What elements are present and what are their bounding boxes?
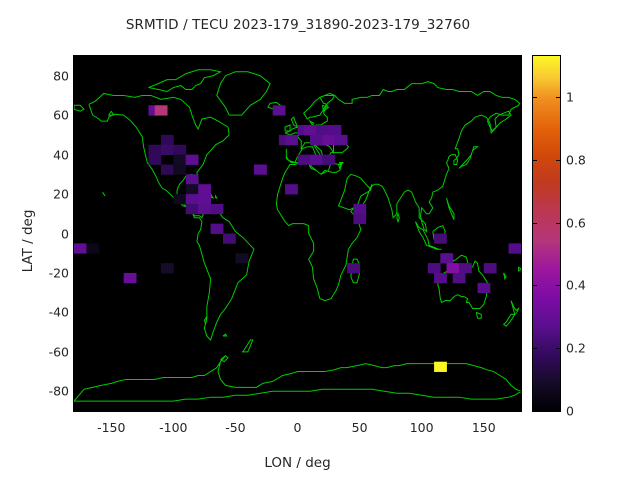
colorbar-tick-mark bbox=[556, 160, 560, 161]
heatmap-cell bbox=[74, 243, 87, 253]
heatmap-cell bbox=[434, 362, 447, 372]
x-tick-mark bbox=[298, 407, 299, 411]
heatmap-cell bbox=[211, 224, 224, 234]
y-tick-mark bbox=[74, 273, 78, 274]
x-tick-mark bbox=[484, 56, 485, 60]
y-tick-label: -40 bbox=[0, 305, 74, 320]
heatmap-cell bbox=[447, 263, 460, 273]
colorbar-tick-mark bbox=[556, 348, 560, 349]
heatmap-cell bbox=[434, 234, 447, 244]
y-axis-label: LAT / deg bbox=[20, 181, 36, 301]
y-tick-label: -60 bbox=[0, 344, 74, 359]
heatmap-cell bbox=[298, 155, 311, 165]
y-tick-label: 60 bbox=[0, 108, 74, 123]
x-tick-mark bbox=[360, 56, 361, 60]
x-tick-mark bbox=[235, 407, 236, 411]
colorbar-tick-mark bbox=[533, 285, 537, 286]
heatmap-cell bbox=[322, 135, 335, 145]
x-tick-mark bbox=[111, 407, 112, 411]
y-tick-label: -80 bbox=[0, 384, 74, 399]
colorbar[interactable] bbox=[533, 56, 560, 411]
heatmap-cell bbox=[173, 164, 186, 174]
colorbar-tick-mark bbox=[556, 97, 560, 98]
x-tick-mark bbox=[111, 56, 112, 60]
y-tick-label: 40 bbox=[0, 147, 74, 162]
y-tick-mark bbox=[74, 76, 78, 77]
y-tick-mark bbox=[517, 155, 521, 156]
heatmap-cell bbox=[186, 184, 199, 194]
heatmap-cell bbox=[186, 155, 199, 165]
y-tick-label: 20 bbox=[0, 187, 74, 202]
y-tick-mark bbox=[517, 115, 521, 116]
heatmap-cell bbox=[453, 273, 466, 283]
heatmap-cell bbox=[322, 155, 335, 165]
colorbar-tick-mark bbox=[556, 411, 560, 412]
heatmap-cells-layer bbox=[74, 56, 521, 411]
x-tick-mark bbox=[484, 407, 485, 411]
heatmap-cell bbox=[478, 283, 491, 293]
colorbar-tick-label: 0.8 bbox=[566, 152, 586, 167]
y-tick-mark bbox=[517, 391, 521, 392]
y-tick-mark bbox=[517, 76, 521, 77]
heatmap-cell bbox=[459, 263, 472, 273]
y-tick-mark bbox=[517, 312, 521, 313]
y-tick-mark bbox=[517, 273, 521, 274]
colorbar-tick-mark bbox=[533, 348, 537, 349]
heatmap-cell bbox=[254, 164, 267, 174]
heatmap-cell bbox=[353, 204, 366, 214]
heatmap-cell bbox=[149, 145, 162, 155]
y-tick-mark bbox=[74, 234, 78, 235]
heatmap-cell bbox=[329, 125, 342, 135]
x-tick-mark bbox=[173, 407, 174, 411]
heatmap-cell bbox=[347, 263, 360, 273]
colorbar-tick-mark bbox=[533, 160, 537, 161]
colorbar-tick-label: 0 bbox=[566, 404, 574, 419]
heatmap-cell bbox=[198, 194, 211, 204]
x-tick-mark bbox=[173, 56, 174, 60]
heatmap-cell bbox=[149, 155, 162, 165]
heatmap-cell bbox=[285, 184, 298, 194]
heatmap-cell bbox=[235, 253, 248, 263]
heatmap-cell bbox=[161, 164, 174, 174]
x-tick-label: -100 bbox=[159, 420, 187, 435]
y-tick-label: -20 bbox=[0, 265, 74, 280]
heatmap-cell bbox=[173, 194, 186, 204]
heatmap-cell bbox=[440, 253, 453, 263]
heatmap-cell bbox=[173, 145, 186, 155]
y-tick-mark bbox=[517, 352, 521, 353]
figure-canvas: SRMTID / TECU 2023-179_31890-2023-179_32… bbox=[0, 0, 640, 480]
heatmap-cell bbox=[211, 204, 224, 214]
colorbar-gradient bbox=[533, 56, 560, 411]
x-tick-label: -50 bbox=[225, 420, 245, 435]
heatmap-cell bbox=[161, 135, 174, 145]
x-tick-mark bbox=[235, 56, 236, 60]
heatmap-cell bbox=[223, 234, 236, 244]
heatmap-cell bbox=[509, 243, 521, 253]
colorbar-tick-label: 0.4 bbox=[566, 278, 586, 293]
map-plot-area[interactable] bbox=[74, 56, 521, 411]
y-tick-mark bbox=[74, 194, 78, 195]
y-tick-mark bbox=[74, 155, 78, 156]
x-tick-label: 100 bbox=[410, 420, 434, 435]
y-tick-mark bbox=[517, 194, 521, 195]
heatmap-cell bbox=[434, 273, 447, 283]
heatmap-cell bbox=[124, 273, 137, 283]
heatmap-cell bbox=[273, 105, 286, 115]
heatmap-cell bbox=[173, 155, 186, 165]
colorbar-tick-mark bbox=[556, 285, 560, 286]
heatmap-cell bbox=[285, 135, 298, 145]
heatmap-cell bbox=[316, 125, 329, 135]
y-tick-mark bbox=[74, 312, 78, 313]
colorbar-tick-mark bbox=[533, 411, 537, 412]
colorbar-tick-label: 0.2 bbox=[566, 341, 586, 356]
x-tick-label: 50 bbox=[352, 420, 368, 435]
y-tick-label: 80 bbox=[0, 68, 74, 83]
heatmap-cell bbox=[86, 243, 99, 253]
heatmap-cell bbox=[428, 263, 441, 273]
x-tick-mark bbox=[360, 407, 361, 411]
y-tick-mark bbox=[74, 391, 78, 392]
heatmap-cell bbox=[161, 145, 174, 155]
x-tick-mark bbox=[422, 407, 423, 411]
heatmap-cell bbox=[186, 174, 199, 184]
y-tick-mark bbox=[517, 234, 521, 235]
x-tick-mark bbox=[422, 56, 423, 60]
x-tick-label: 150 bbox=[472, 420, 496, 435]
heatmap-cell bbox=[310, 135, 323, 145]
heatmap-cell bbox=[335, 135, 348, 145]
heatmap-cell bbox=[484, 263, 497, 273]
heatmap-cell bbox=[310, 155, 323, 165]
colorbar-tick-label: 1 bbox=[566, 89, 574, 104]
heatmap-cell bbox=[186, 204, 199, 214]
heatmap-cell bbox=[161, 263, 174, 273]
x-axis-label: LON / deg bbox=[74, 455, 521, 471]
heatmap-cell bbox=[198, 184, 211, 194]
y-tick-mark bbox=[74, 352, 78, 353]
heatmap-cell bbox=[198, 204, 211, 214]
x-tick-label: -150 bbox=[97, 420, 125, 435]
colorbar-tick-label: 0.6 bbox=[566, 215, 586, 230]
y-tick-label: 0 bbox=[0, 226, 74, 241]
y-tick-mark bbox=[74, 115, 78, 116]
colorbar-tick-mark bbox=[556, 223, 560, 224]
heatmap-cell bbox=[155, 105, 168, 115]
x-tick-label: 0 bbox=[294, 420, 302, 435]
colorbar-tick-mark bbox=[533, 223, 537, 224]
heatmap-cell bbox=[186, 194, 199, 204]
x-tick-mark bbox=[298, 56, 299, 60]
colorbar-tick-mark bbox=[533, 97, 537, 98]
heatmap-cell bbox=[304, 125, 317, 135]
page-title: SRMTID / TECU 2023-179_31890-2023-179_32… bbox=[0, 17, 596, 33]
heatmap-cell bbox=[353, 214, 366, 224]
